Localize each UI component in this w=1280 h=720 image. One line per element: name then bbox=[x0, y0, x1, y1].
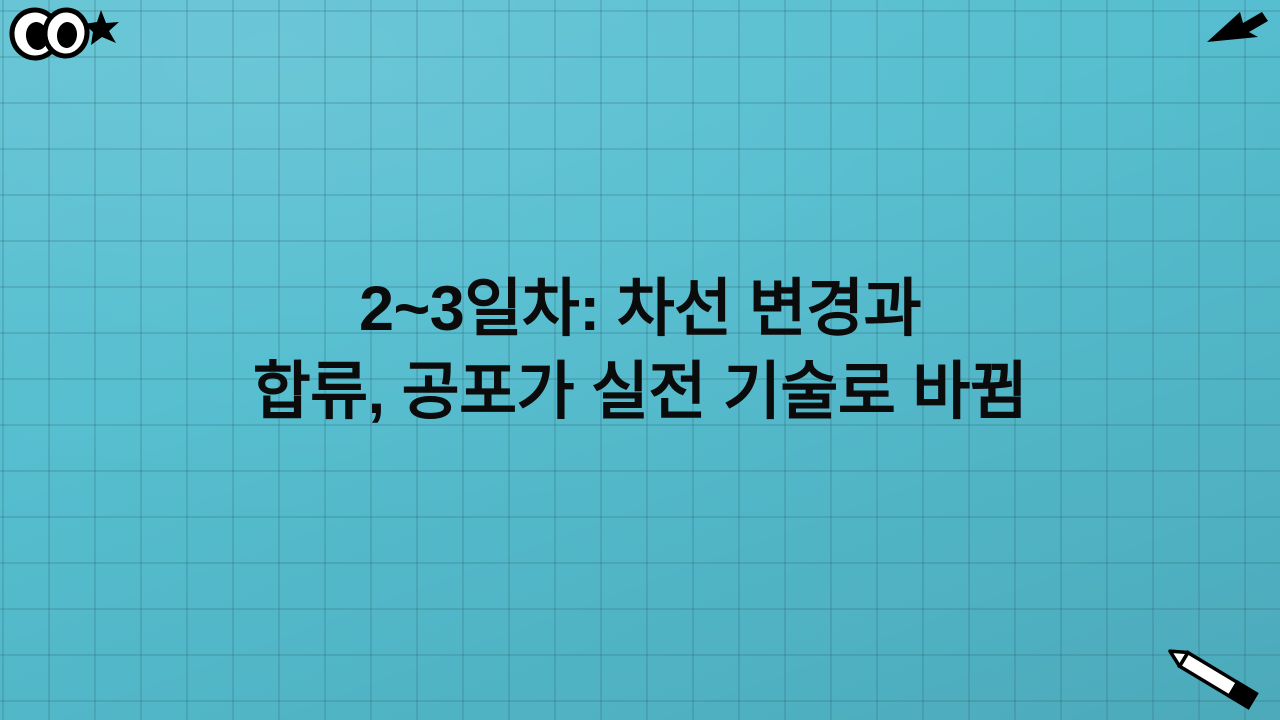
googly-eyes-icon bbox=[6, 4, 122, 62]
slide-title: 2~3일차: 차선 변경과 합류, 공포가 실전 기술로 바뀜 bbox=[0, 268, 1280, 434]
title-line-2: 합류, 공포가 실전 기술로 바뀜 bbox=[40, 351, 1240, 434]
cursor-arrow-icon bbox=[1200, 4, 1272, 56]
title-line-1: 2~3일차: 차선 변경과 bbox=[40, 268, 1240, 351]
pencil-icon bbox=[1160, 644, 1276, 716]
eye-right bbox=[43, 8, 90, 58]
slide-canvas: 2~3일차: 차선 변경과 합류, 공포가 실전 기술로 바뀜 bbox=[0, 0, 1280, 720]
star-icon bbox=[84, 10, 119, 45]
